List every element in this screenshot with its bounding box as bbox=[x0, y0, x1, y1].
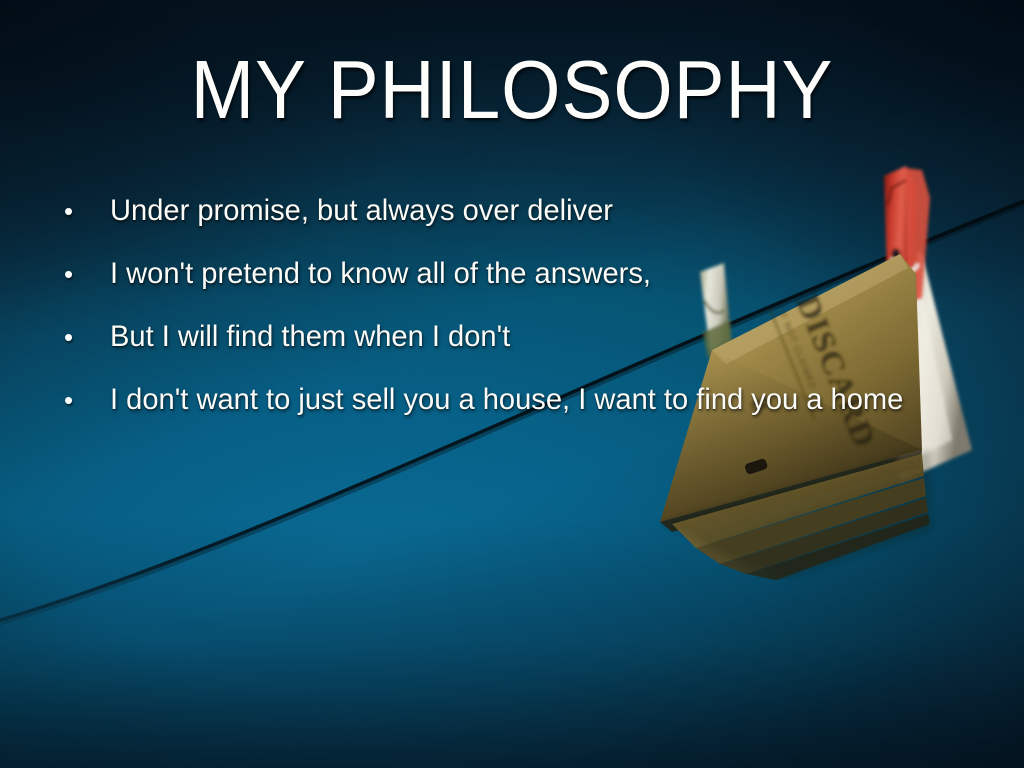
list-item: • I won't pretend to know all of the ans… bbox=[56, 255, 1004, 318]
page-title: MY PHILOSOPHY bbox=[41, 48, 983, 131]
bullet-marker-icon: • bbox=[56, 381, 110, 419]
list-item: • Under promise, but always over deliver bbox=[56, 192, 1004, 255]
bullet-text: But I will find them when I don't bbox=[110, 318, 977, 356]
bullet-marker-icon: • bbox=[56, 318, 110, 356]
bullet-text: Under promise, but always over deliver bbox=[110, 192, 977, 230]
list-item: • But I will find them when I don't bbox=[56, 318, 1004, 381]
bullet-marker-icon: • bbox=[56, 192, 110, 230]
list-item: • I don't want to just sell you a house,… bbox=[56, 381, 1004, 444]
bullet-list: • Under promise, but always over deliver… bbox=[56, 192, 1004, 444]
presentation-slide: DISCARD IF NOT CLAIMED 8 MY PHILOSOPHY •… bbox=[0, 0, 1024, 768]
bullet-text: I don't want to just sell you a house, I… bbox=[110, 381, 977, 419]
bullet-marker-icon: • bbox=[56, 255, 110, 293]
bullet-text: I won't pretend to know all of the answe… bbox=[110, 255, 977, 293]
